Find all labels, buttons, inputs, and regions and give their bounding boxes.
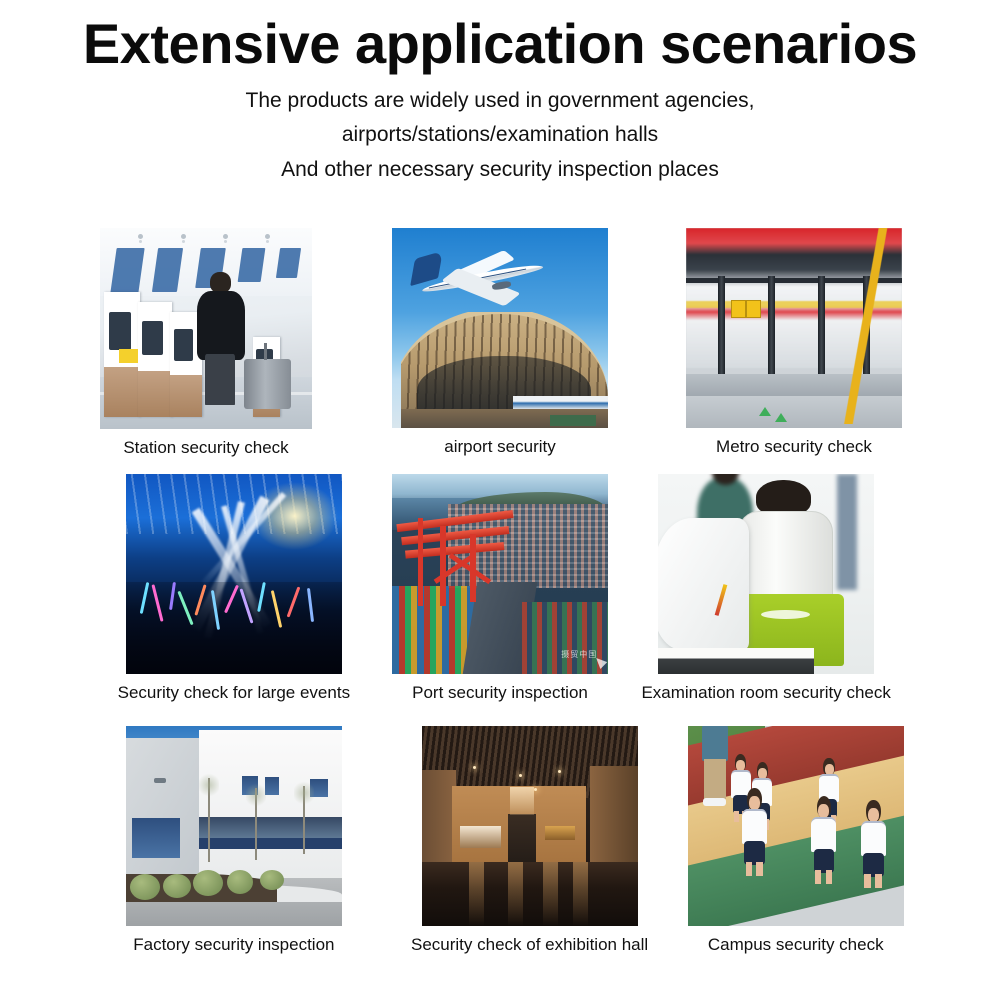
subtitle-line-3: And other necessary security inspection … (0, 153, 1000, 187)
scenario-caption: Security check of exhibition hall (411, 935, 648, 955)
scenario-card-metro: Metro security check (674, 228, 914, 457)
photo-watermark: 摄贸中国 (561, 649, 597, 660)
gallery-row: Station security check (0, 228, 1000, 474)
examination-room-security-photo (658, 474, 874, 674)
gallery-row: Factory security inspection (0, 726, 1000, 976)
subtitle-line-1: The products are widely used in governme… (0, 84, 1000, 118)
scenario-card-airport: airport security (380, 228, 620, 457)
large-events-security-photo (126, 474, 342, 674)
scenario-caption: Port security inspection (412, 683, 588, 703)
scenario-caption: Security check for large events (118, 683, 350, 703)
scenario-card-port: 摄贸中国 Port security inspection (382, 474, 619, 703)
scenario-card-large-events: Security check for large events (86, 474, 382, 703)
factory-security-inspection-photo (126, 726, 342, 926)
scenario-card-exhibition: Security check of exhibition hall (382, 726, 678, 955)
subtitle-line-2: airports/stations/examination halls (0, 118, 1000, 152)
scenario-caption: Factory security inspection (133, 935, 334, 955)
exhibition-hall-security-photo (422, 726, 638, 926)
scenario-gallery: Station security check (0, 228, 1000, 976)
port-security-inspection-photo: 摄贸中国 (392, 474, 608, 674)
scenario-card-campus: Campus security check (677, 726, 914, 955)
scenario-caption: airport security (444, 437, 555, 457)
gallery-row: Security check for large events (0, 474, 1000, 726)
scenario-card-factory: Factory security inspection (86, 726, 382, 955)
airport-security-photo (392, 228, 608, 428)
scenario-caption: Metro security check (716, 437, 872, 457)
page-subtitle: The products are widely used in governme… (0, 84, 1000, 186)
station-security-check-photo (100, 228, 312, 429)
scenario-caption: Station security check (123, 438, 288, 458)
scenario-card-station: Station security check (86, 228, 326, 458)
campus-security-check-photo (688, 726, 904, 926)
scenario-card-examination: Examination room security check (618, 474, 914, 703)
scenario-caption: Campus security check (708, 935, 884, 955)
page-title: Extensive application scenarios (0, 14, 1000, 74)
metro-security-check-photo (686, 228, 902, 428)
scenario-caption: Examination room security check (641, 683, 890, 703)
scenarios-page: Extensive application scenarios The prod… (0, 0, 1000, 1000)
page-header: Extensive application scenarios The prod… (0, 0, 1000, 187)
